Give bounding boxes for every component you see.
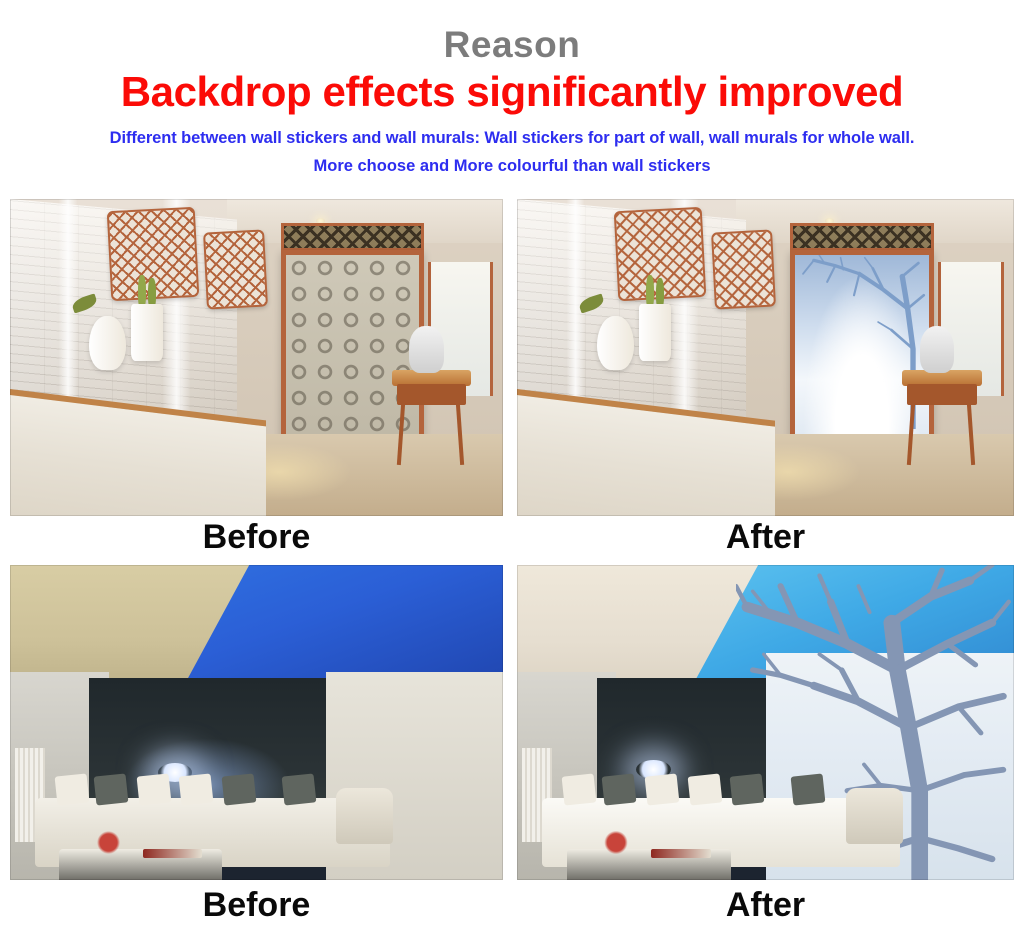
side-table xyxy=(392,370,471,465)
caption-hallway-before: Before xyxy=(10,520,503,554)
header: Reason Backdrop effects significantly im… xyxy=(0,0,1024,178)
comparison-image-hallway-after xyxy=(517,199,1014,516)
sofa-cushion-white xyxy=(55,773,90,805)
caption-hallway-after: After xyxy=(517,520,1014,554)
white-planter xyxy=(131,304,163,361)
side-table xyxy=(902,370,982,465)
sofa-armrest xyxy=(846,788,903,843)
books-on-table xyxy=(651,849,711,858)
sofa-cushion-grey xyxy=(282,773,317,805)
sofa-cushion-grey xyxy=(791,773,826,805)
transom-fretwork xyxy=(281,223,424,252)
sofa-cushion-white xyxy=(179,773,214,805)
sofa-cushion-white xyxy=(644,773,679,805)
sofa-armrest xyxy=(336,788,393,843)
subtitle-line-1: Different between wall stickers and wall… xyxy=(0,127,1024,149)
hallway-scene-before xyxy=(10,199,503,516)
eyebrow-text: Reason xyxy=(0,0,1024,63)
page-title: Backdrop effects significantly improved xyxy=(0,71,1024,113)
side-table-leg xyxy=(397,403,405,465)
flower-vase xyxy=(601,830,631,855)
caption-livingroom-before: Before xyxy=(10,888,503,922)
side-table-leg xyxy=(907,403,915,465)
promo-page: Reason Backdrop effects significantly im… xyxy=(0,0,1024,944)
sofa-cushion-grey xyxy=(730,773,765,805)
comparison-image-livingroom-before xyxy=(10,565,503,880)
decor-figurine xyxy=(409,326,444,374)
white-vase xyxy=(597,316,634,370)
subtitle-line-2: More choose and More colourful than wall… xyxy=(0,155,1024,177)
sofa-cushion-white xyxy=(136,773,171,805)
hallway-scene-after xyxy=(517,199,1014,516)
white-planter xyxy=(639,304,671,361)
livingroom-scene-after xyxy=(517,565,1014,880)
sofa-cushion-white xyxy=(562,773,597,805)
sofa-cushion-grey xyxy=(94,773,129,805)
white-vase xyxy=(89,316,126,370)
sofa-cushion-grey xyxy=(601,773,636,805)
sofa-cushion-white xyxy=(687,773,722,805)
sofa-cushion-grey xyxy=(221,773,256,805)
wooden-lattice-panel-2 xyxy=(203,229,268,309)
side-table-leg xyxy=(456,403,464,465)
wooden-lattice-panel-2 xyxy=(711,229,776,309)
comparison-image-hallway-before xyxy=(10,199,503,516)
transom-fretwork xyxy=(790,223,934,252)
books-on-table xyxy=(143,849,202,858)
decor-figurine xyxy=(920,326,955,374)
flower-vase xyxy=(94,830,124,855)
caption-livingroom-after: After xyxy=(517,888,1014,922)
side-table-leg xyxy=(967,403,975,465)
livingroom-scene-before xyxy=(10,565,503,880)
comparison-image-livingroom-after xyxy=(517,565,1014,880)
